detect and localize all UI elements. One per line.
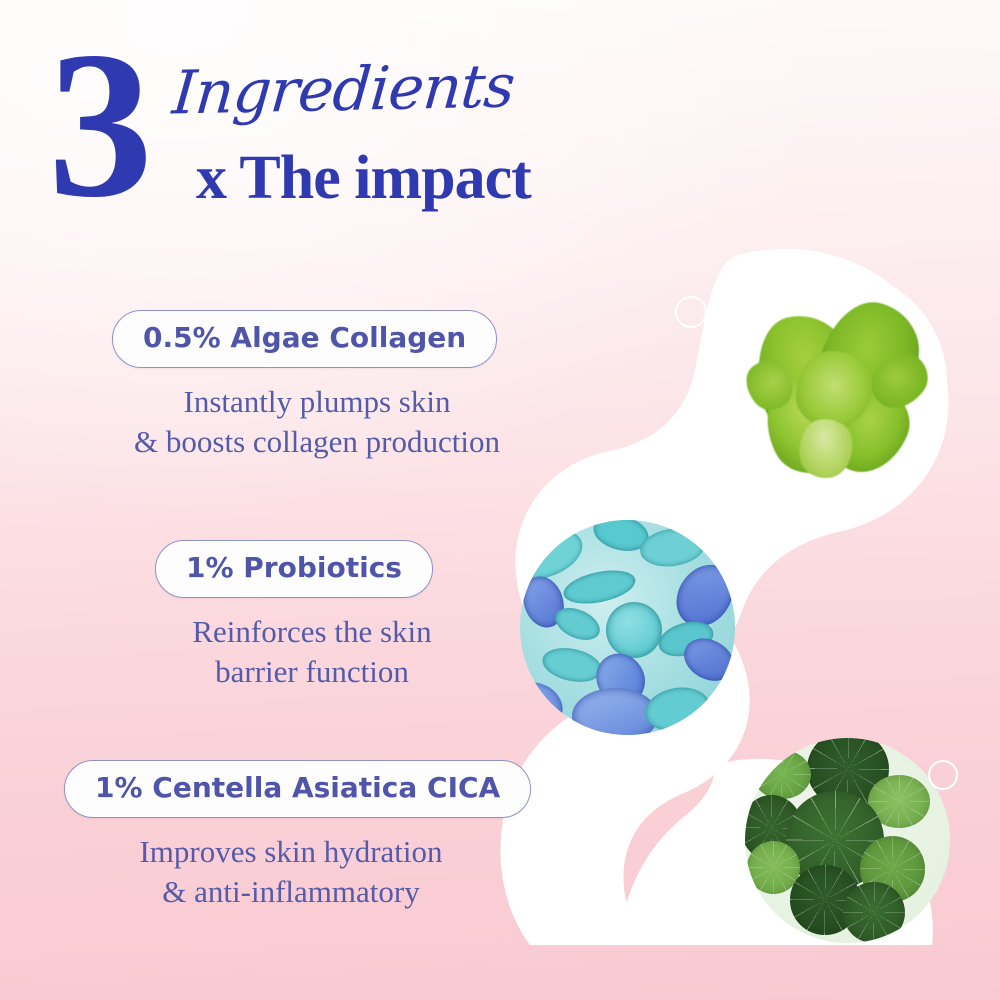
ingredient-block-centella: 1% Centella Asiatica CICA Improves skin … bbox=[64, 760, 531, 911]
ingredient-description-probiotics: Reinforces the skin barrier function bbox=[147, 612, 477, 691]
probiotics-photo-circle bbox=[520, 520, 735, 735]
ingredient-description-centella: Improves skin hydration & anti-inflammat… bbox=[60, 832, 522, 911]
headline-impact-line: x The impact bbox=[196, 147, 531, 209]
decorative-ring-lower bbox=[928, 760, 958, 790]
centella-photo-circle bbox=[745, 738, 950, 943]
ingredient-pill-algae[interactable]: 0.5% Algae Collagen bbox=[112, 310, 497, 368]
algae-photo bbox=[722, 270, 947, 495]
ingredient-block-algae: 0.5% Algae Collagen Instantly plumps ski… bbox=[112, 310, 523, 461]
headline-script-word: Ingredients bbox=[170, 56, 516, 123]
headline-numeral: 3 bbox=[48, 20, 147, 230]
decorative-ring-upper bbox=[675, 296, 707, 328]
algae-photo-circle bbox=[722, 270, 947, 495]
centella-photo bbox=[745, 738, 950, 943]
headline: 3 Ingredients x The impact bbox=[48, 42, 688, 232]
ingredient-pill-centella[interactable]: 1% Centella Asiatica CICA bbox=[64, 760, 531, 818]
ingredient-pill-probiotics[interactable]: 1% Probiotics bbox=[155, 540, 433, 598]
ingredient-description-algae: Instantly plumps skin & boosts collagen … bbox=[111, 382, 523, 461]
probiotics-photo bbox=[520, 520, 735, 735]
ingredient-block-probiotics: 1% Probiotics Reinforces the skin barrie… bbox=[155, 540, 477, 691]
